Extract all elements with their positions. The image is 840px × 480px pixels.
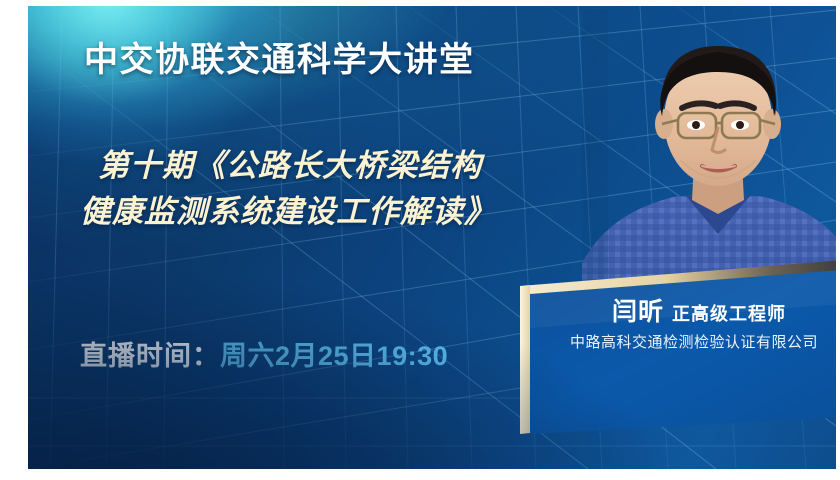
poster-root: 中交协联交通科学大讲堂 第十期《公路长大桥梁结构 健康监测系统建设工作解读》 直… — [0, 0, 840, 480]
cyan-glow-decoration — [28, 6, 308, 166]
speaker-plate: 闫昕正高级工程师 中路高科交通检测检验认证有限公司 — [520, 258, 836, 443]
live-time-value: 周六2月25日19:30 — [220, 341, 448, 371]
speaker-name: 闫昕 — [612, 298, 664, 326]
speaker-photo — [582, 10, 836, 290]
live-time-label: 直播时间： — [80, 341, 220, 371]
live-time: 直播时间：周六2月25日19:30 — [80, 334, 448, 373]
episode-subtitle: 第十期《公路长大桥梁结构 健康监测系统建设工作解读》 — [80, 143, 600, 235]
speaker-organization: 中路高科交通检测检验认证有限公司 — [524, 331, 836, 352]
speaker-name-row: 闫昕正高级工程师 — [534, 292, 836, 328]
episode-subtitle-line-1: 第十期《公路长大桥梁结构 — [80, 143, 600, 189]
page-title: 中交协联交通科学大讲堂 — [84, 32, 475, 81]
poster-card: 中交协联交通科学大讲堂 第十期《公路长大桥梁结构 健康监测系统建设工作解读》 直… — [28, 6, 836, 469]
speaker-title: 正高级工程师 — [672, 304, 786, 324]
episode-subtitle-line-2: 健康监测系统建设工作解读》 — [80, 189, 600, 235]
